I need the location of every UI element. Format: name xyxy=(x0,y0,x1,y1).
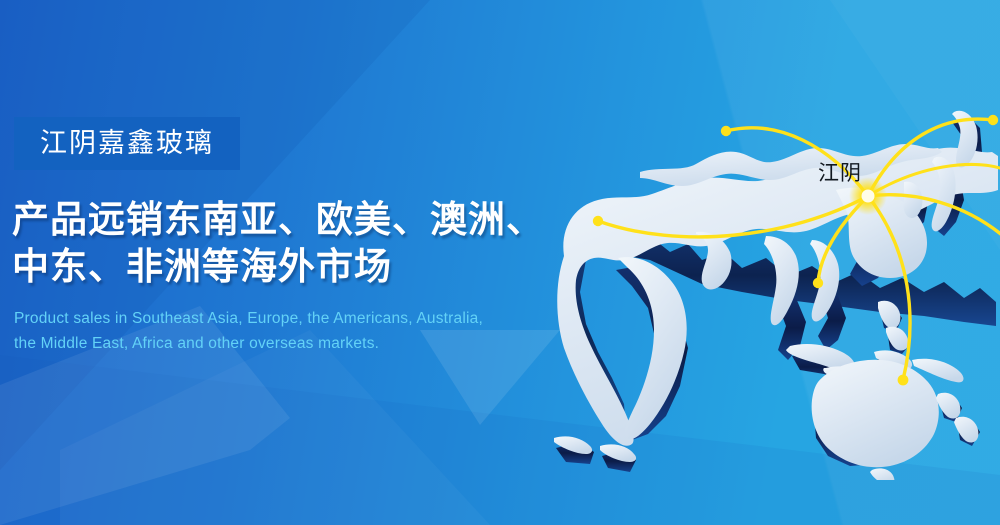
world-map-graphic xyxy=(520,60,1000,480)
company-name-label: 江阴嘉鑫玻璃 xyxy=(40,130,214,157)
headline-line-1: 产品远销东南亚、欧美、澳洲、 xyxy=(12,196,572,243)
headline-line-2: 中东、非洲等海外市场 xyxy=(12,243,572,290)
background-facet-lower-left xyxy=(60,330,490,525)
headline: 产品远销东南亚、欧美、澳洲、 中东、非洲等海外市场 xyxy=(12,196,572,290)
map-hub-label: 江阴 xyxy=(818,163,862,184)
subtitle-line-2: the Middle East, Africa and other overse… xyxy=(14,331,594,356)
promo-banner: 江阴 江阴嘉鑫玻璃 产品远销东南亚、欧美、澳洲、 中东、非洲等海外市场 Prod… xyxy=(0,0,1000,525)
subtitle: Product sales in Southeast Asia, Europe,… xyxy=(14,306,594,356)
subtitle-line-1: Product sales in Southeast Asia, Europe,… xyxy=(14,306,594,331)
company-name-badge: 江阴嘉鑫玻璃 xyxy=(14,117,240,170)
